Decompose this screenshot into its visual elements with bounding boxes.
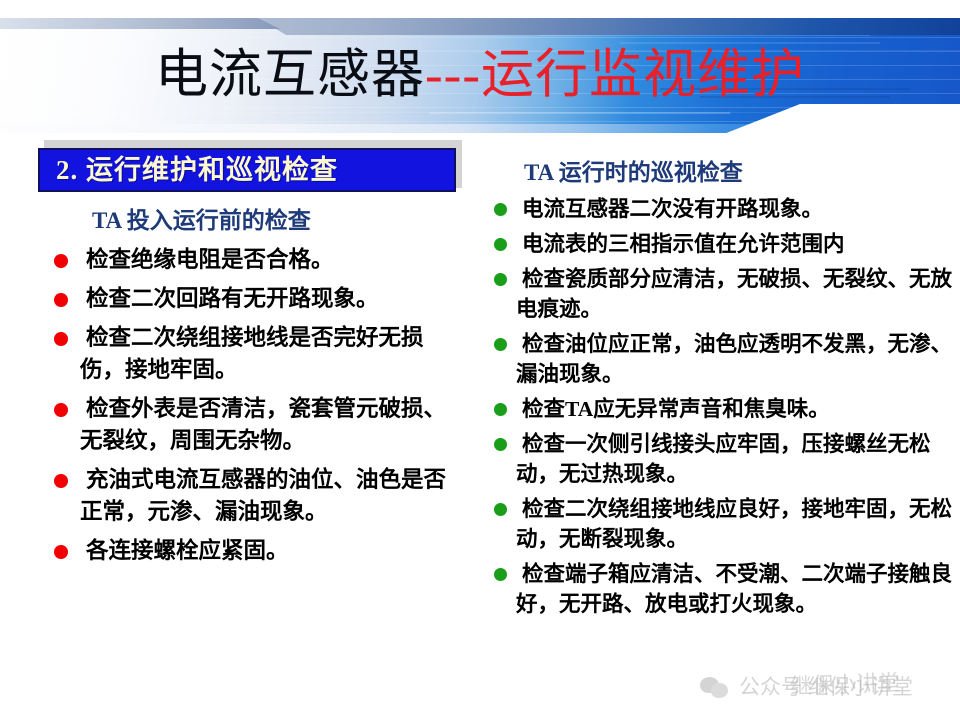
green-bullet-icon [494,568,507,581]
list-item-text: 电流互感器二次没有开路现象。 [478,194,954,224]
right-column-bullet-list: 电流互感器二次没有开路现象。 电流表的三相指示值在允许范围内 检查瓷质部分应清洁… [478,194,954,619]
watermark-text: 公众号 继保小讲堂 [739,676,913,700]
list-item: 各连接螺栓应紧固。 [38,535,460,567]
wechat-icon-bubble-large [700,677,719,693]
list-item: 检查TA应无异常声音和焦臭味。 [478,394,954,424]
list-item: 检查二次绕组接地线是否完好无损伤，接地牢固。 [38,322,460,386]
list-item: 检查绝缘电阻是否合格。 [38,244,460,276]
red-bullet-icon [54,545,68,559]
list-item-text: 检查二次绕组接地线应良好，接地牢固，无松动，无断裂现象。 [478,494,954,554]
red-bullet-icon [54,403,68,417]
list-item: 检查油位应正常，油色应透明不发黑，无渗、漏油现象。 [478,329,954,389]
page-title-accent: ---运行监视维护 [425,46,805,104]
green-bullet-icon [494,438,507,451]
list-item: 检查二次绕组接地线应良好，接地牢固，无松动，无断裂现象。 [478,494,954,554]
left-column: TA 投入运行前的检查 检查绝缘电阻是否合格。 检查二次回路有无开路现象。 检查… [40,206,460,574]
list-item-text: 检查瓷质部分应清洁，无破损、无裂纹、无放电痕迹。 [478,264,954,324]
list-item: 检查端子箱应清洁、不受潮、二次端子接触良好，无开路、放电或打火现象。 [478,559,954,619]
list-item-text: 各连接螺栓应紧固。 [38,535,460,567]
list-item: 充油式电流互感器的油位、油色是否正常，元渗、漏油现象。 [38,464,460,528]
list-item-text: 检查油位应正常，油色应透明不发黑，无渗、漏油现象。 [478,329,954,389]
list-item: 检查一次侧引线接头应牢固，压接螺丝无松动，无过热现象。 [478,429,954,489]
page-title: 电流互感器---运行监视维护 [0,44,960,106]
page-title-main: 电流互感器 [155,46,425,104]
green-bullet-icon [494,203,507,216]
list-item: 检查外表是否清洁，瓷套管元破损、无裂纹，周围无杂物。 [38,393,460,457]
banner-top-angled-bar-light [0,18,290,29]
green-bullet-icon [494,338,507,351]
list-item-text: 检查端子箱应清洁、不受潮、二次端子接触良好，无开路、放电或打火现象。 [478,559,954,619]
green-bullet-icon [494,403,507,416]
right-column-subtitle: TA 运行时的巡视检查 [478,158,954,188]
list-item-text: 检查二次绕组接地线是否完好无损伤，接地牢固。 [38,322,460,386]
list-item-text: 检查一次侧引线接头应牢固，压接螺丝无松动，无过热现象。 [478,429,954,489]
left-column-bullet-list: 检查绝缘电阻是否合格。 检查二次回路有无开路现象。 检查二次绕组接地线是否完好无… [40,244,460,567]
section-heading-label: 2. 运行维护和巡视检查 [56,155,338,185]
banner-bottom-white-strip [0,133,960,138]
section-heading-box: 2. 运行维护和巡视检查 [38,148,456,192]
green-bullet-icon [494,273,507,286]
list-item-text: 检查TA应无异常声音和焦臭味。 [478,394,954,424]
list-item-text: 检查绝缘电阻是否合格。 [38,244,460,276]
red-bullet-icon [54,332,68,346]
watermark-overlay-text: 继保小讲堂 [790,670,901,700]
list-item: 检查瓷质部分应清洁，无破损、无裂纹、无放电痕迹。 [478,264,954,324]
green-bullet-icon [494,238,507,251]
green-bullet-icon [494,503,507,516]
red-bullet-icon [54,293,68,307]
red-bullet-icon [54,474,68,488]
list-item-text: 检查外表是否清洁，瓷套管元破损、无裂纹，周围无杂物。 [38,393,460,457]
right-column: TA 运行时的巡视检查 电流互感器二次没有开路现象。 电流表的三相指示值在允许范… [478,158,954,624]
list-item-text: 充油式电流互感器的油位、油色是否正常，元渗、漏油现象。 [38,464,460,528]
wechat-icon [700,676,730,700]
left-column-subtitle: TA 投入运行前的检查 [40,206,460,236]
list-item: 检查二次回路有无开路现象。 [38,283,460,315]
wechat-icon-bubble-small [711,683,728,698]
red-bullet-icon [54,254,68,268]
list-item-text: 电流表的三相指示值在允许范围内 [478,229,954,259]
watermark: 公众号 继保小讲堂 [700,676,913,700]
list-item: 电流表的三相指示值在允许范围内 [478,229,954,259]
list-item-text: 检查二次回路有无开路现象。 [38,283,460,315]
slide-header-banner: 电流互感器---运行监视维护 [0,0,960,138]
list-item: 电流互感器二次没有开路现象。 [478,194,954,224]
